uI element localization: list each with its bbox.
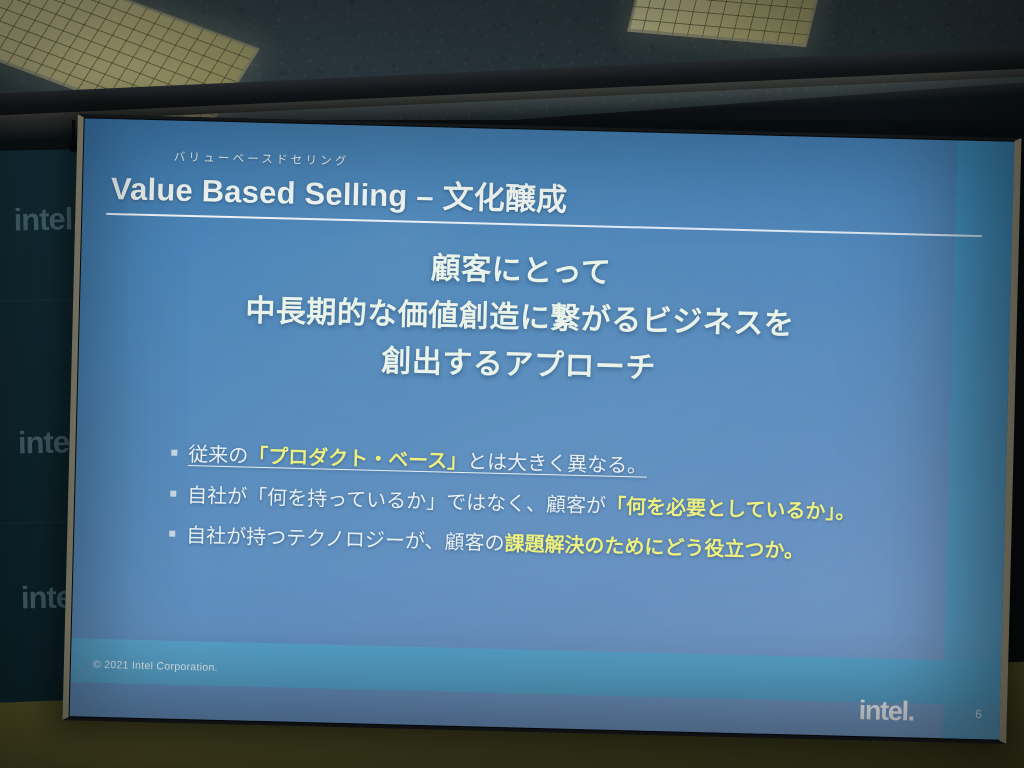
banner-intel-logo: intel. xyxy=(13,201,80,238)
screen-pull-cord xyxy=(72,120,75,146)
presentation-room-scene: intel. intel. intel. バリューベースドセリング Value … xyxy=(0,0,1024,768)
projection-screen: バリューベースドセリング Value Based Selling – 文化醸成 … xyxy=(62,114,1021,744)
screen-bezel xyxy=(62,114,1021,744)
